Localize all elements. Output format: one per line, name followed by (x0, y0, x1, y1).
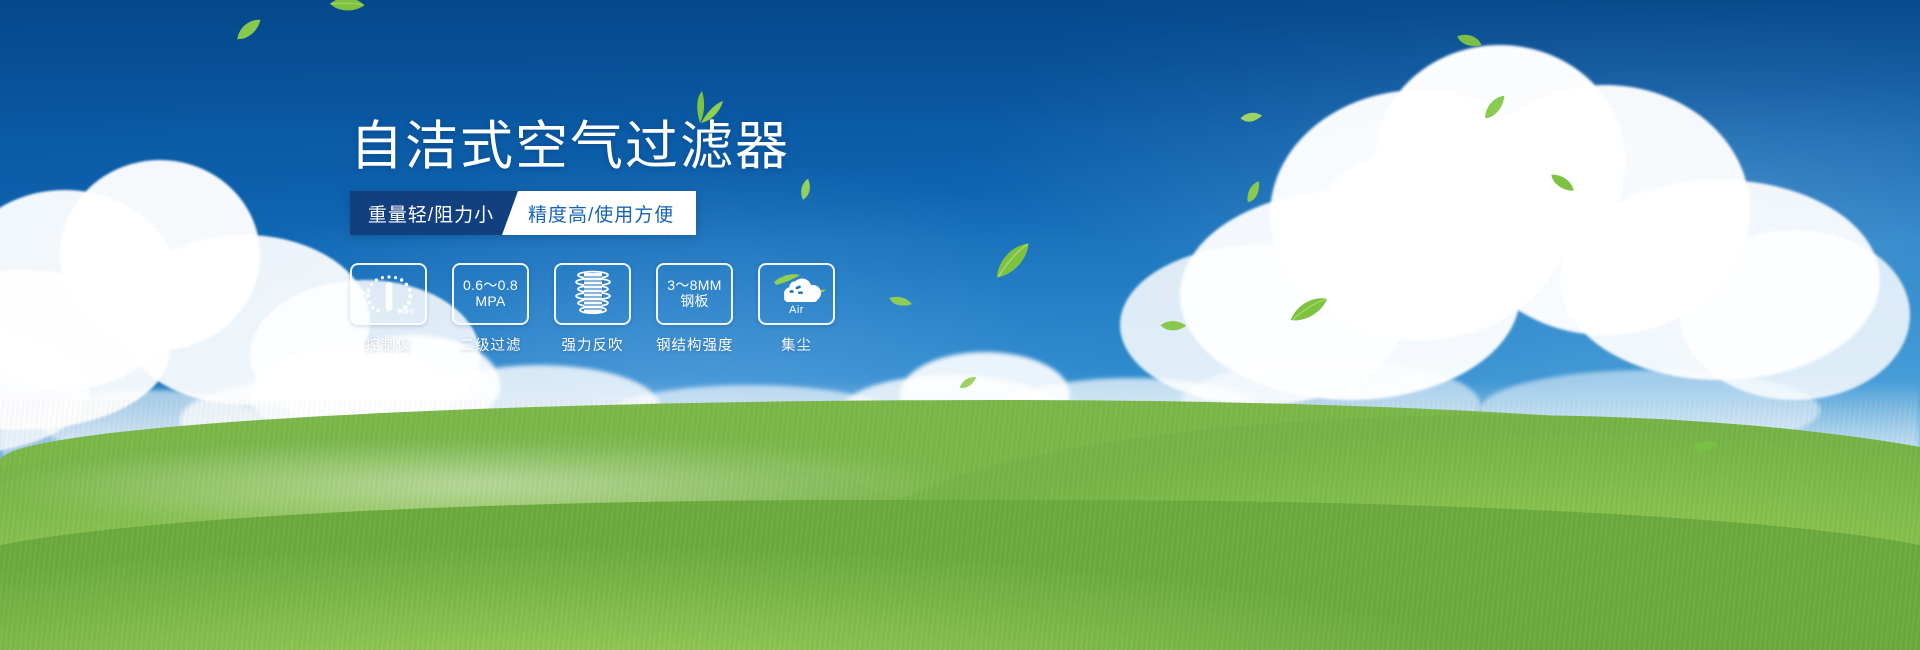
feature-item-steel[interactable]: 3～8MM 钢板 钢结构强度 (656, 263, 733, 355)
badge-precision-convenience[interactable]: 精度高/使用方便 (502, 191, 696, 235)
feature-box: NO OFF (350, 263, 427, 325)
feature-box: Air (758, 263, 835, 325)
feature-caption: 钢结构强度 (656, 334, 733, 355)
feature-item-backblow[interactable]: 强力反吹 (554, 263, 631, 355)
feature-caption: 二级过滤 (452, 334, 529, 355)
title-leaf-icon (678, 90, 724, 129)
pressure-line-2: MPA (463, 294, 518, 310)
air-label: Air (789, 304, 804, 316)
pressure-line-1: 0.6～0.8 (463, 278, 518, 294)
feature-caption: 控制仪 (350, 334, 427, 355)
air-cloud-icon (768, 272, 826, 306)
feature-caption: 集尘 (758, 334, 835, 355)
hero-banner: 自洁式空气过滤器 重量轻/阻力小 精度高/使用方便 (0, 0, 1920, 650)
steel-line-1: 3～8MM (667, 278, 721, 294)
feature-item-dust-collection[interactable]: Air 集尘 (758, 263, 835, 355)
dial-on-label: NO (361, 291, 370, 297)
filter-cartridge-icon (570, 270, 616, 318)
dial-gauge-icon: NO OFF (358, 269, 420, 319)
feature-item-pressure[interactable]: 0.6～0.8 MPA 二级过滤 (452, 263, 529, 355)
page-title: 自洁式空气过滤器 (350, 120, 790, 173)
feature-box: 0.6～0.8 MPA (452, 263, 529, 325)
pressure-value-icon: 0.6～0.8 MPA (463, 278, 518, 309)
feature-caption: 强力反吹 (554, 334, 631, 355)
badge-group: 重量轻/阻力小 精度高/使用方便 (350, 191, 696, 235)
steel-line-2: 钢板 (667, 294, 721, 310)
feature-box: 3～8MM 钢板 (656, 263, 733, 325)
steel-plate-value-icon: 3～8MM 钢板 (667, 278, 721, 309)
badge-weight-resistance[interactable]: 重量轻/阻力小 (350, 191, 518, 235)
feature-list: NO OFF 控制仪 0.6～0.8 MPA 二级过滤 (350, 263, 835, 355)
dial-off-label: OFF (402, 310, 414, 316)
feature-box (554, 263, 631, 325)
banner-content: 自洁式空气过滤器 重量轻/阻力小 精度高/使用方便 (0, 0, 1920, 650)
feature-item-controller[interactable]: NO OFF 控制仪 (350, 263, 427, 355)
